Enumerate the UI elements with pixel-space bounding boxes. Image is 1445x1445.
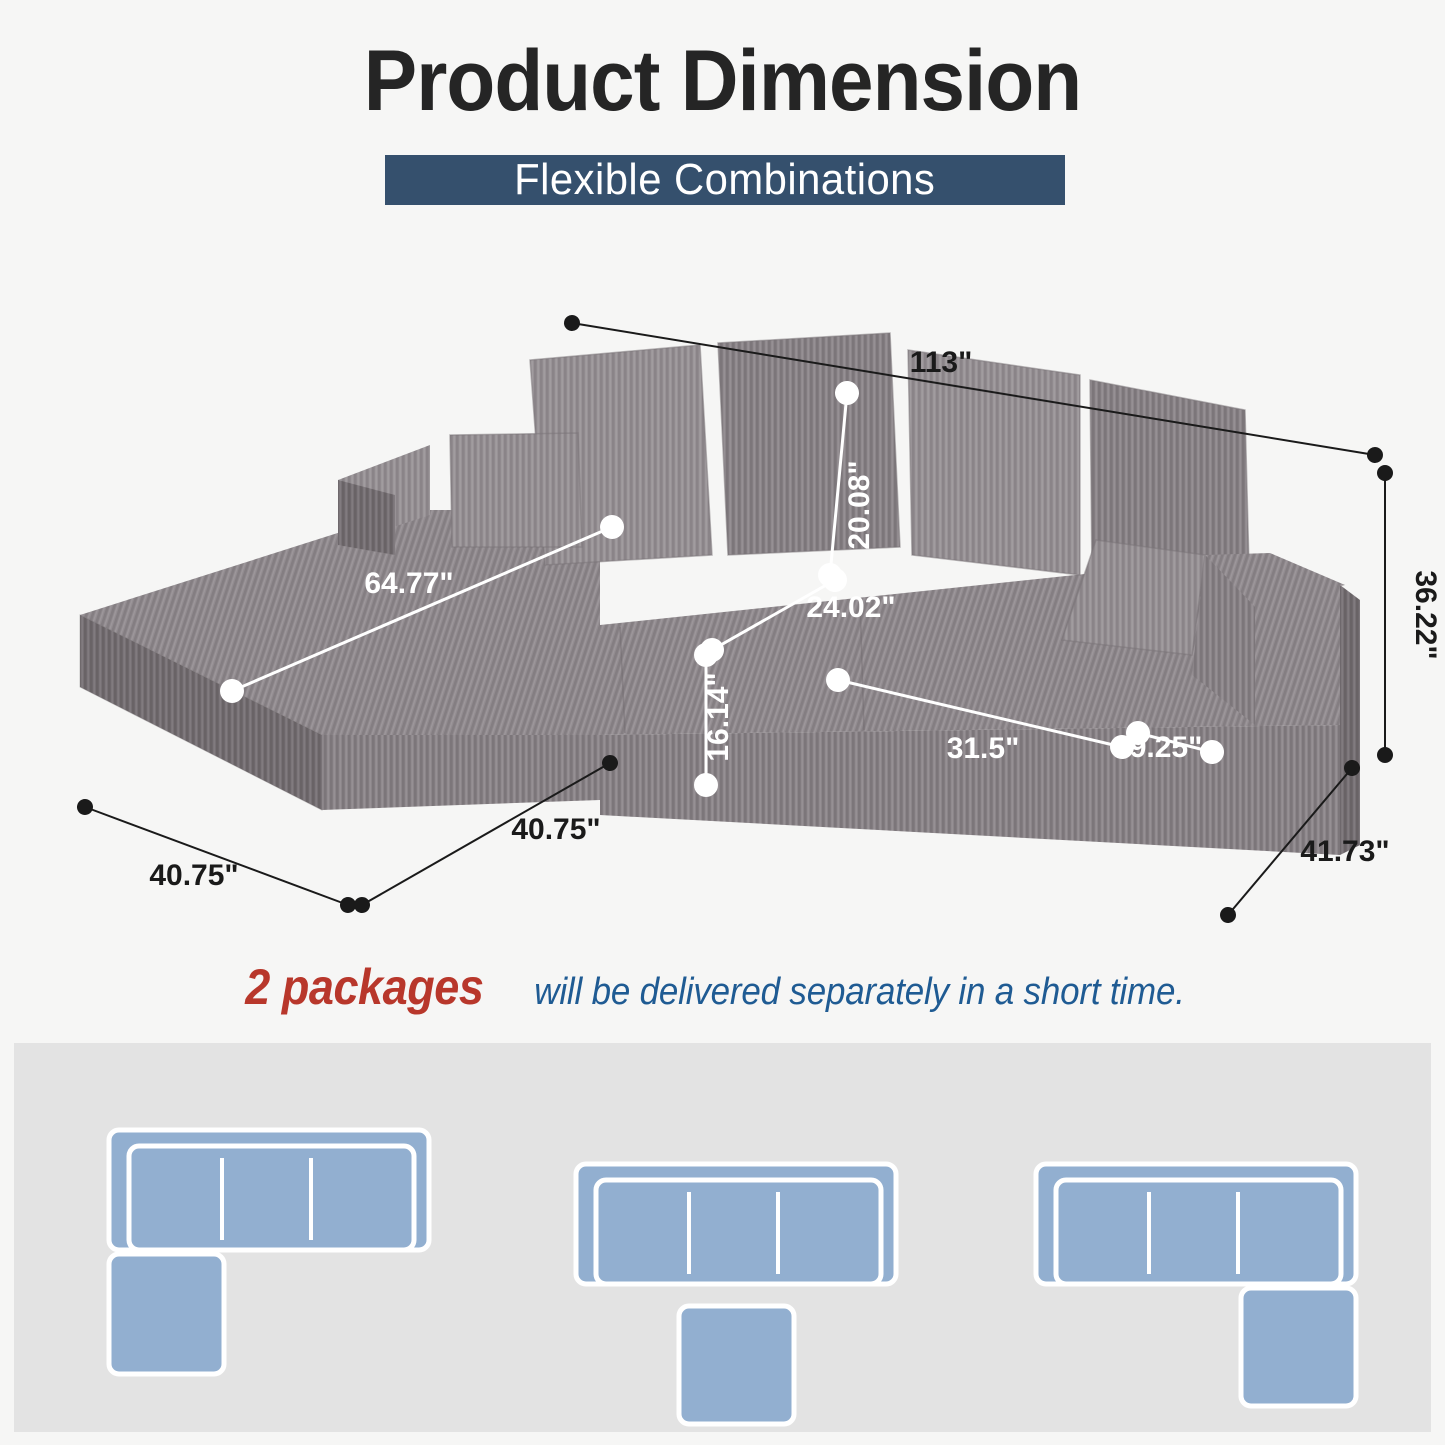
sofa-right-face (1340, 585, 1360, 855)
throw-pillow-left (450, 433, 582, 547)
banner-label: Flexible Combinations (514, 158, 935, 202)
throw-pillow-right (1062, 540, 1205, 655)
dim-label-overall-height: 36.22" (1409, 570, 1442, 659)
subtitle-banner: Flexible Combinations (385, 155, 1065, 205)
dim-label-overall-width: 113" (910, 346, 973, 379)
dim-label-overall-depth: 41.73" (1300, 835, 1389, 868)
combo1-sofa-seats (129, 1146, 414, 1250)
dim-label-chaise-front: 40.75" (149, 859, 238, 892)
combination-left-chaise (109, 1130, 429, 1374)
combination-right-chaise (1036, 1164, 1356, 1406)
dim-label-armrest-width: 9.25" (1130, 731, 1203, 764)
delivery-note: 2 packageswill be delivered separately i… (0, 958, 1445, 1016)
dim-label-seat-height: 16.14" (702, 672, 735, 761)
dim-label-seat-width: 31.5" (947, 732, 1020, 765)
product-dimension-infographic: Product Dimension Flexible Combinations (0, 0, 1445, 1445)
combo1-chaise (109, 1254, 224, 1374)
combo2-ottoman (679, 1306, 794, 1424)
combo3-sofa-seats (1056, 1180, 1341, 1284)
dim-label-chaise-side: 40.75" (511, 813, 600, 846)
dim-label-backrest-height: 20.08" (843, 460, 876, 549)
sofa-illustration: 113" 20.08" 24.02" 16.14" 64.77" 31.5" 9… (0, 255, 1445, 955)
combination-options-panel (14, 1043, 1431, 1432)
combo2-sofa-seats (596, 1180, 881, 1284)
delivery-note-text: will be delivered separately in a short … (535, 971, 1185, 1014)
dim-label-chaise-length: 64.77" (364, 567, 453, 600)
combination-detached-ottoman (576, 1164, 896, 1424)
back-cushion-3 (908, 350, 1080, 575)
chaise-side-face (322, 735, 600, 810)
dim-label-seat-depth: 24.02" (806, 591, 895, 624)
combo3-chaise (1241, 1288, 1356, 1406)
package-count-highlight: 2 packages (245, 958, 483, 1016)
chaise-module (80, 510, 600, 810)
page-title: Product Dimension (51, 38, 1395, 124)
